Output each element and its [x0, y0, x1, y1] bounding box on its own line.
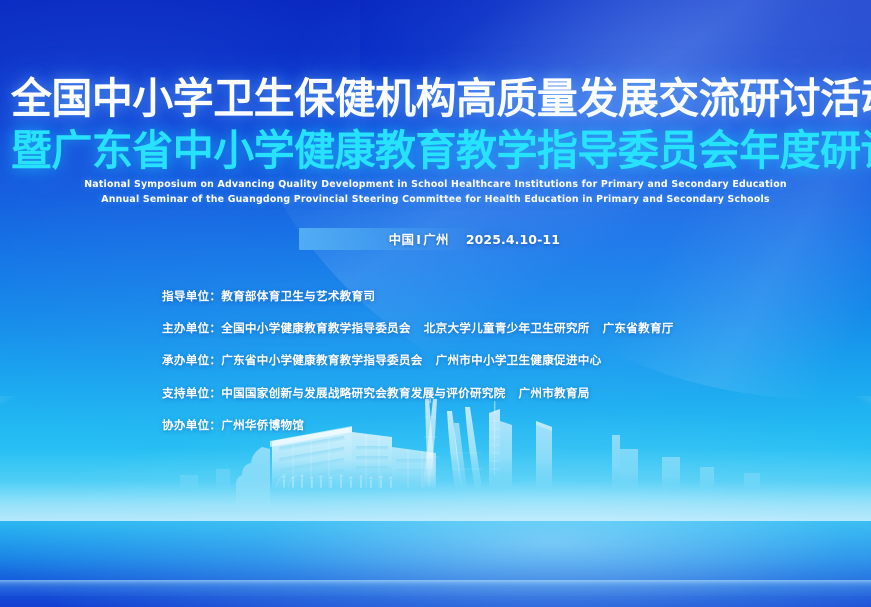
- organizer-label: 指导单位：: [162, 288, 221, 304]
- organizer-label: 承办单位：: [162, 352, 221, 368]
- skyline-haze: [0, 449, 871, 521]
- organizer-name: 广东省教育厅: [603, 320, 674, 336]
- organizer-name: 广州市中小学卫生健康促进中心: [436, 352, 602, 368]
- crowd-figures: [283, 475, 393, 489]
- organizer-name: 教育部体育卫生与艺术教育司: [221, 288, 375, 304]
- organizer-label: 主办单位：: [162, 320, 221, 336]
- conference-poster: 全国中小学卫生保健机构高质量发展交流研讨活动 暨广东省中小学健康教育教学指导委员…: [0, 0, 871, 607]
- organizer-name: 全国中小学健康教育教学指导委员会: [221, 320, 411, 336]
- organizer-name: 广州华侨博物馆: [221, 417, 304, 433]
- venue-banner: 中国I广州2025.4.10-11: [0, 229, 560, 248]
- organizer-name: 北京大学儿童青少年卫生研究所: [424, 320, 590, 336]
- organizer-name: 广州市教育局: [519, 385, 590, 401]
- organizer-row: 指导单位：教育部体育卫生与艺术教育司: [162, 288, 862, 304]
- venue-country: 中国: [389, 232, 415, 247]
- organizer-row: 协办单位：广州华侨博物馆: [162, 417, 862, 433]
- poster-title-line-2: 暨广东省中小学健康教育教学指导委员会年度研讨活动: [11, 130, 860, 172]
- organizer-values: 全国中小学健康教育教学指导委员会北京大学儿童青少年卫生研究所广东省教育厅: [221, 320, 673, 336]
- organizer-values: 广州华侨博物馆: [221, 417, 304, 433]
- organizer-row: 承办单位：广东省中小学健康教育教学指导委员会广州市中小学卫生健康促进中心: [162, 352, 862, 368]
- organizer-values: 中国国家创新与发展战略研究会教育发展与评价研究院广州市教育局: [221, 385, 589, 401]
- poster-subtitle-english-line-1: National Symposium on Advancing Quality …: [0, 179, 871, 190]
- event-date: 2025.4.10-11: [466, 232, 560, 247]
- organizer-values: 广东省中小学健康教育教学指导委员会广州市中小学卫生健康促进中心: [221, 352, 601, 368]
- venue-city: 广州: [423, 232, 449, 247]
- organizer-name: 中国国家创新与发展战略研究会教育发展与评价研究院: [221, 385, 505, 401]
- poster-title-line-1: 全国中小学卫生保健机构高质量发展交流研讨活动: [11, 78, 860, 120]
- organizer-label: 协办单位：: [162, 417, 221, 433]
- organizer-values: 教育部体育卫生与艺术教育司: [221, 288, 375, 304]
- poster-subtitle-english-line-2: Annual Seminar of the Guangdong Provinci…: [0, 194, 871, 205]
- organizer-label: 支持单位：: [162, 385, 221, 401]
- organizer-list: 指导单位：教育部体育卫生与艺术教育司主办单位：全国中小学健康教育教学指导委员会北…: [162, 288, 862, 449]
- venue-separator: I: [414, 232, 423, 247]
- organizer-row: 支持单位：中国国家创新与发展战略研究会教育发展与评价研究院广州市教育局: [162, 385, 862, 401]
- organizer-row: 主办单位：全国中小学健康教育教学指导委员会北京大学儿童青少年卫生研究所广东省教育…: [162, 320, 862, 336]
- organizer-name: 广东省中小学健康教育教学指导委员会: [221, 352, 422, 368]
